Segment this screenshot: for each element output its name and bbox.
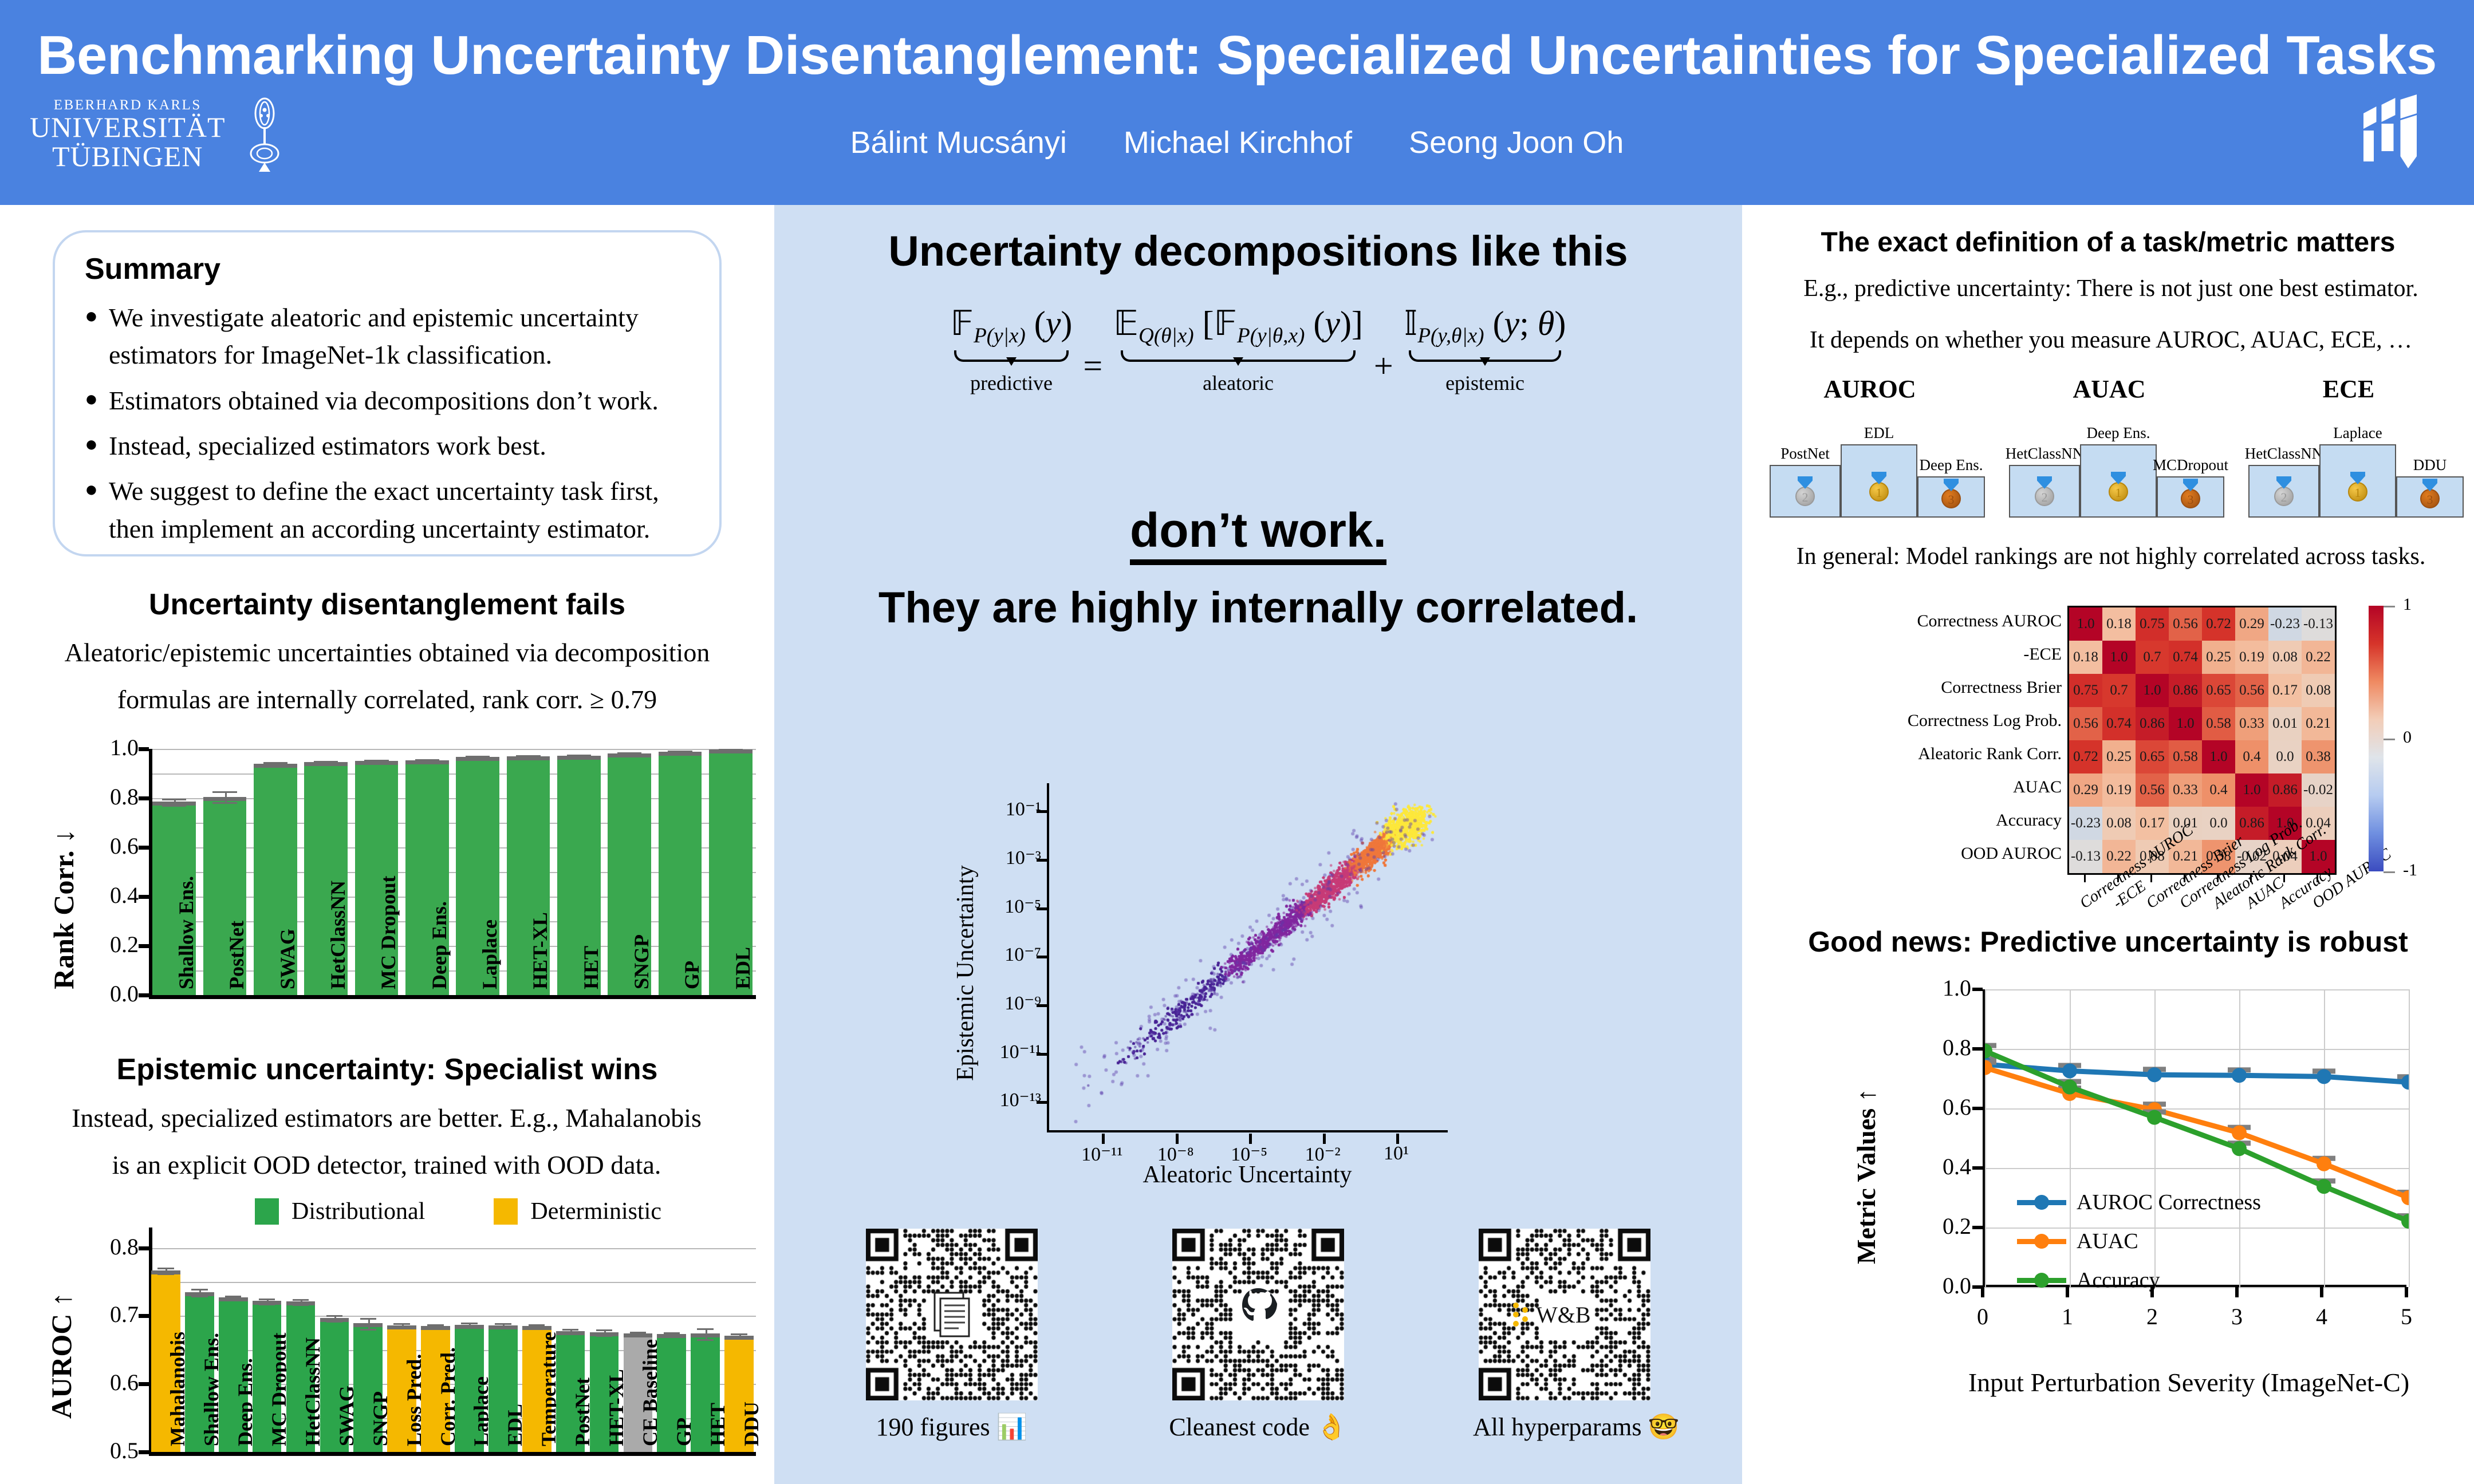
legend-label: Accuracy [2077,1268,2160,1293]
underbrace-icon [1404,349,1566,366]
error-bar-cap [567,757,592,759]
right-column: The exact definition of a task/metric ma… [1742,205,2474,1484]
gridline [149,749,756,750]
line-chart-x-tick-mark [1981,1287,1984,1297]
bar: HET-XL [507,756,550,995]
line-chart-x-tick: 1 [2044,1303,2090,1330]
error-bar-cap [263,762,288,764]
x-axis-line [149,995,756,999]
bar: Loss Pred. [387,1325,416,1452]
bar: Deep Ens. [405,760,449,995]
heatmap-row-label: Correctness AUROC [1917,611,2062,631]
heatmap-cell: 0.86 [2268,773,2302,807]
medal-disc: 1 [1869,482,1889,502]
section-heading-specialist: Epistemic uncertainty: Specialist wins [0,1052,774,1087]
equation-label-epistemic: epistemic [1404,371,1566,395]
y-tick-mark [139,1382,149,1386]
qr-caption-text: Cleanest code [1169,1413,1310,1441]
heatmap-row-label: AUAC [2013,777,2062,797]
scatter-y-tick: 10⁻¹¹ [961,1040,1041,1063]
medal-disc: 3 [2420,489,2440,508]
bar: Mahalanobis [151,1270,180,1452]
line-chart-y-tick: 0.8 [1902,1034,1971,1061]
error-bar-cap [719,750,743,752]
heatmap-cell: 0.56 [2136,773,2169,807]
right-paragraph-2: It depends on whether you measure AUROC,… [1748,326,2474,354]
qr-code-github[interactable] [1172,1229,1344,1400]
medal-icon-rank-1: 1 [2345,472,2370,502]
scatter-x-tick-mark [1323,1134,1326,1144]
summary-bullet-1: We investigate aleatoric and epistemic u… [109,299,693,374]
section2-paragraph-line2: is an explicit OOD detector, trained wit… [14,1142,759,1189]
scatter-x-tick-mark [1176,1134,1179,1144]
heatmap-cell: 0.17 [2136,807,2169,840]
podium-metric-title: ECE [2243,374,2455,404]
error-bar-cap [259,1298,275,1300]
section1-paragraph-line1: Aleatoric/epistemic uncertainties obtain… [23,630,751,676]
error-bar-cap [461,1327,477,1328]
error-bar-cap [259,1304,275,1305]
gridline [2409,989,2410,1287]
medal-disc: 3 [1941,489,1961,508]
equation-predictive-term: 𝔽P(y|x) (y) predictive [951,303,1073,395]
bar: HET [691,1333,720,1452]
error-bar-cap [364,762,389,764]
heatmap-cell: 1.0 [2069,607,2102,641]
error-bar-cap [360,1329,376,1331]
medal-icon-rank-3: 3 [2417,479,2443,508]
error-bar-cap [263,765,288,767]
y-tick-label: 0.0 [74,980,139,1007]
legend-label: AUROC Correctness [2077,1190,2261,1215]
error-bar-cap [562,1333,578,1335]
bar-category-label: MC Dropout [376,876,400,989]
bar: GP [659,752,702,995]
auroc-y-axis-label: AUROC ↑ [45,1292,78,1419]
podium-model-name: Deep Ens. [2070,424,2167,442]
error-bar-cap [466,756,490,757]
error-bar-cap [293,1304,309,1306]
heatmap-cell: 0.17 [2268,674,2302,707]
heatmap-cell: -0.02 [2302,773,2335,807]
error-bar-cap [731,1333,747,1335]
bar-category-label: EDL [731,947,755,989]
line-chart-y-tick: 0.6 [1902,1094,1971,1120]
colorbar-tick-label: -1 [2403,861,2417,880]
medal-disc: 1 [2348,482,2367,502]
medal-icon-rank-2: 2 [2271,476,2296,506]
qr-caption-code: Cleanest code 👌 [1167,1412,1350,1442]
heatmap-cell: 0.0 [2202,807,2235,840]
y-tick-mark [139,846,149,850]
line-chart-x-tick: 5 [2384,1303,2429,1330]
colorbar-tick-label: 1 [2403,595,2412,614]
line-chart-y-tick: 0.4 [1902,1153,1971,1180]
heatmap-cell: -0.23 [2069,807,2102,840]
heatmap-column-tick [2184,873,2185,882]
poster-header: Benchmarking Uncertainty Disentanglement… [0,0,2474,205]
error-bar-cap [427,1328,443,1330]
equation-aleatoric-term: 𝔼Q(θ|x) [𝔽P(y|θ,x) (y)] aleatoric [1113,303,1363,395]
legend-label: Deterministic [530,1198,661,1225]
y-tick-label: 0.8 [74,783,139,810]
scatter-x-tick-mark [1102,1134,1105,1144]
bar: MC Dropout [355,761,399,995]
error-bar-cap [516,755,541,757]
bar: HetClassNN [286,1301,316,1452]
heatmap-cell: -0.13 [2302,607,2335,641]
left-column: Summary ● We investigate aleatoric and e… [0,205,774,1484]
line-chart-x-tick: 3 [2214,1303,2260,1330]
heatmap-cell: 0.33 [2169,773,2202,807]
podium-model-name: DDU [2381,456,2474,474]
bar: DDU [724,1336,754,1452]
heatmap-row-label: -ECE [2023,645,2062,664]
y-tick-mark [139,895,149,899]
colorbar-tick-mark [2384,871,2395,873]
error-bar-cap [415,759,440,761]
error-bar-cap [668,753,692,755]
heatmap-column-tick [2117,873,2119,882]
heatmap-cell: 0.29 [2235,607,2268,641]
data-point [2232,1126,2247,1140]
error-bar-cap [162,799,187,800]
medal-ribbon-icon [2276,476,2291,489]
bar: PostNet [203,797,247,995]
bar: GP [657,1334,686,1452]
bar-category-label: HetClassNN [326,881,350,989]
heatmap-cell: 1.0 [2235,773,2268,807]
bullet-icon: ● [85,472,109,547]
error-bar-cap [697,1339,713,1341]
error-bar-cap [293,1299,309,1301]
author-3: Seong Joon Oh [1409,125,1624,160]
bar: HET [557,756,601,995]
data-point [2062,1063,2077,1078]
qr-caption-text: All hyperparams [1473,1413,1641,1441]
qr-block-hyperparams[interactable]: W&B All hyperparams 🤓 [1473,1229,1656,1442]
y-tick-mark [139,1246,149,1250]
bar: SWAG [254,764,297,995]
error-bar-cap [466,758,490,760]
y-tick-label: 0.7 [74,1301,139,1328]
error-bar-cap [212,791,237,793]
legend-swatch [2017,1200,2066,1205]
colorbar-tick-label: 0 [2403,728,2412,747]
medal-ribbon-icon [1944,479,1959,491]
page-title: Benchmarking Uncertainty Disentanglement… [0,24,2474,87]
data-point [2232,1068,2247,1083]
error-bar-cap [157,1268,174,1269]
heatmap-column-tick [2283,873,2285,882]
heatmap-cell: 0.01 [2268,707,2302,740]
podium-model-name: HetClassNN [1996,445,2093,463]
y-tick-mark [139,944,149,948]
error-bar-cap [393,1323,409,1325]
heatmap-cell: 0.08 [2102,807,2136,840]
qr-caption-figures: 190 figures 📊 [860,1412,1043,1442]
qr-block-code[interactable]: Cleanest code 👌 [1167,1229,1350,1442]
podium-model-name: Laplace [2309,424,2406,442]
y-tick-label: 0.6 [74,1369,139,1396]
heatmap-cell: 0.58 [2202,707,2235,740]
list-item: ● We suggest to define the exact uncerta… [85,472,693,547]
line-chart-x-tick-mark [2405,1287,2408,1297]
line-chart-y-tick-mark [1972,988,1983,991]
heatmap-row-label: Accuracy [1996,811,2062,830]
y-tick-label: 0.8 [74,1233,139,1260]
error-bar-cap [630,1332,646,1333]
equation-label-predictive: predictive [951,371,1073,395]
heatmap-cell: 0.58 [2169,740,2202,773]
heatmap-cell: 1.0 [2169,707,2202,740]
scatter-y-tick-mark [1037,859,1047,862]
bullet-icon: ● [85,299,109,374]
heatmap-row-label: Aleatoric Rank Corr. [1918,744,2062,764]
medal-icon-rank-2: 2 [2032,476,2057,506]
y-tick-label: 1.0 [74,734,139,761]
heatmap-cell: 0.08 [2302,674,2335,707]
error-bar-cap [495,1328,511,1329]
task-correlation-heatmap: 1.00.180.750.560.720.29-0.23-0.130.181.0… [1884,600,2463,921]
heatmap-cell: 0.74 [2169,641,2202,674]
heatmap-cell: 0.25 [2102,740,2136,773]
gridline [149,1282,756,1283]
heatmap-column-tick [2084,873,2086,882]
bar: Temperature [522,1326,551,1452]
heatmap-cell: 0.18 [2102,607,2136,641]
legend-item: AUROC Correctness [2017,1190,2261,1215]
scatter-y-tick: 10⁻¹ [961,798,1041,820]
scatter-y-tick-mark [1037,810,1047,813]
legend-item: Accuracy [2017,1268,2160,1293]
summary-card: Summary ● We investigate aleatoric and e… [53,230,722,556]
medal-ribbon-icon [1798,476,1813,489]
heatmap-cell: 0.21 [2302,707,2335,740]
underbrace-icon [951,349,1073,366]
center-heading-2: don’t work. [774,503,1742,558]
ok-hand-emoji-icon: 👌 [1316,1413,1348,1441]
gridline [149,1248,756,1249]
error-bar-cap [697,1328,713,1330]
heatmap-cell: 0.72 [2202,607,2235,641]
heatmap-cell: 0.25 [2202,641,2235,674]
scatter-y-tick-mark [1037,907,1047,910]
y-tick-label: 0.5 [74,1437,139,1464]
bar: Shallow Ens. [185,1292,214,1452]
podium-auroc: AUROCPostNet2EDL1Deep Ens.3 [1764,374,1976,518]
auroc-legend: DistributionalDeterministic [160,1198,756,1225]
podium-auac: AUACHetClassNN2Deep Ens.1MCDropout3 [2003,374,2215,518]
summary-bullet-3: Instead, specialized estimators work bes… [109,427,693,464]
error-bar-cap [225,1296,241,1297]
medal-ribbon-icon [2037,476,2052,489]
error-bar-cap [314,763,338,765]
ood-auroc-bar-chart: AUROC ↑ 0.50.60.70.8MahalanobisShallow E… [34,1190,773,1476]
scatter-y-tick: 10⁻⁹ [961,992,1041,1015]
line-chart-y-tick: 1.0 [1902,974,1971,1001]
heatmap-cell: 0.22 [2302,641,2335,674]
heatmap-cell: 0.19 [2102,773,2136,807]
error-bar-cap [191,1296,207,1297]
heatmap-cell: 0.75 [2069,674,2102,707]
qr-code-figures[interactable] [866,1229,1038,1400]
heatmap-row-label: OOD AUROC [1961,844,2062,863]
line-chart-y-tick-mark [1972,1226,1983,1229]
bar: SWAG [320,1318,349,1452]
legend-label: AUAC [2077,1229,2138,1254]
line-chart-x-tick-mark [2320,1287,2323,1297]
heatmap-cell: 0.29 [2069,773,2102,807]
scatter-y-tick-mark [1037,1101,1047,1104]
heatmap-row-label: Correctness Brier [1941,678,2062,697]
y-tick-mark [139,747,149,751]
podium-metric-title: AUAC [2003,374,2215,404]
scatter-y-tick: 10⁻⁷ [961,943,1041,966]
bar: EDL [709,749,753,995]
colorbar-tick-mark [2384,606,2395,607]
bar: HetClassNN [304,762,348,995]
medal-ribbon-icon [2350,472,2365,484]
scatter-y-tick-mark [1037,956,1047,958]
nerd-face-emoji-icon: 🤓 [1648,1413,1679,1441]
legend-swatch [2017,1278,2066,1283]
scatter-y-tick: 10⁻¹³ [961,1088,1041,1111]
podium-model-name: MCDropout [2142,456,2239,474]
line-chart-x-tick: 2 [2129,1303,2175,1330]
list-item: ● We investigate aleatoric and epistemic… [85,299,693,374]
qr-caption-text: 190 figures [876,1413,990,1441]
colorbar-tick-mark [2384,739,2395,740]
y-tick-label: 0.2 [74,931,139,958]
error-bar-cap [529,1328,545,1330]
legend-item: Distributional [255,1198,425,1225]
error-bar-cap [157,1273,174,1275]
y-axis-line [149,749,152,995]
error-bar-cap [630,1336,646,1337]
line-chart-y-tick-mark [1972,1166,1983,1170]
tuebingen-ai-center-logo-icon [2348,94,2434,180]
bar-category-label: DDU [739,1402,763,1446]
dont-work-underlined: don’t work. [1130,503,1386,565]
list-item: ● Estimators obtained via decompositions… [85,382,693,419]
error-bar-cap [360,1318,376,1320]
data-point [2062,1080,2077,1095]
heatmap-cell: 0.4 [2202,773,2235,807]
legend-swatch [255,1198,279,1225]
legend-swatch [2017,1239,2066,1244]
scatter-y-tick: 10⁻⁵ [961,895,1041,918]
heatmap-cell: 0.65 [2136,740,2169,773]
equation-epistemic-term: 𝕀P(y,θ|x) (y; θ) epistemic [1404,303,1566,395]
heatmap-cell: -0.13 [2069,840,2102,873]
qr-code-wandb[interactable]: W&B [1479,1229,1650,1400]
data-point [2317,1157,2331,1171]
podium-model-name: Deep Ens. [1902,456,2000,474]
heatmap-column-tick [2250,873,2252,882]
heatmap-cell: 0.38 [2302,740,2335,773]
list-item: ● Instead, specialized estimators work b… [85,427,693,464]
section2-paragraph-line1: Instead, specialized estimators are bett… [14,1095,759,1142]
error-bar-cap [495,1323,511,1325]
line-chart-x-tick-mark [2150,1287,2154,1297]
error-bar-cap [617,755,642,756]
y-tick-mark [139,1450,149,1454]
bar: PostNet [556,1331,585,1452]
y-tick-mark [139,1314,149,1318]
equation-equals: = [1083,347,1102,385]
error-bar-cap [191,1289,207,1290]
heatmap-cell: 0.33 [2235,707,2268,740]
author-list: Bálint Mucsányi Michael Kirchhof Seong J… [0,125,2474,160]
podium-ece: ECEHetClassNN2Laplace1DDU3 [2243,374,2455,518]
heatmap-cell: 0.0 [2268,740,2302,773]
error-bar-cap [664,1332,680,1334]
error-bar-cap [225,1300,241,1301]
line-chart-y-tick: 0.0 [1902,1272,1971,1299]
summary-bullet-4: We suggest to define the exact uncertain… [109,472,693,547]
medal-disc: 3 [2181,489,2200,508]
podium-metric-title: AUROC [1764,374,1976,404]
bullet-icon: ● [85,427,109,464]
error-bar-cap [617,752,642,754]
equation-plus: + [1374,347,1393,385]
bar: SNGP [353,1323,383,1452]
legend-item: Deterministic [494,1198,661,1225]
bar: Laplace [455,1325,484,1452]
scatter-point-cloud [1049,783,1448,1132]
error-bar-cap [516,757,541,759]
error-bar-cap [364,760,389,761]
heatmap-colorbar [2369,606,2384,871]
summary-bullet-2: Estimators obtained via decompositions d… [109,382,693,419]
github-icon [1236,1286,1280,1341]
scatter-x-axis-label: Aleatoric Uncertainty [1047,1161,1448,1189]
qr-block-figures[interactable]: 190 figures 📊 [860,1229,1043,1442]
scatter-x-tick-mark [1249,1134,1252,1144]
bar: Corr. Pred. [421,1326,450,1452]
medal-disc: 2 [2274,487,2294,506]
line-chart-x-axis-label: Input Perturbation Severity (ImageNet-C) [1914,1367,2464,1398]
error-bar-cap [427,1324,443,1326]
section-heading-disentanglement: Uncertainty disentanglement fails [0,587,774,622]
medal-disc: 1 [2109,482,2128,502]
medal-icon-rank-3: 3 [2178,479,2203,508]
right-heading-2: Good news: Predictive uncertainty is rob… [1742,925,2474,958]
right-paragraph-1: E.g., predictive uncertainty: There is n… [1748,275,2474,302]
error-bar-cap [664,1336,680,1338]
section1-paragraph-line2: formulas are internally correlated, rank… [23,677,751,723]
error-bar-cap [567,755,592,756]
bar-chart-emoji-icon: 📊 [996,1413,1028,1441]
data-point [2317,1179,2331,1194]
medal-icon-rank-3: 3 [1939,479,1964,508]
medal-ribbon-icon [1872,472,1886,484]
bar-category-label: Deep Ens. [427,901,451,989]
right-heading-1: The exact definition of a task/metric ma… [1742,227,2474,258]
heatmap-cell: 0.56 [2069,707,2102,740]
heatmap-cell: 0.18 [2069,641,2102,674]
error-bar-cap [314,761,338,763]
error-bar-cap [393,1328,409,1329]
medal-icon-rank-1: 1 [1866,472,1892,502]
heatmap-cell: -0.23 [2268,607,2302,641]
medal-disc: 2 [2035,487,2054,506]
scatter-x-tick-mark [1396,1134,1399,1144]
y-tick-mark [139,993,149,997]
bar: CE Baseline [624,1333,653,1452]
podium-model-name: HetClassNN [2235,445,2333,463]
